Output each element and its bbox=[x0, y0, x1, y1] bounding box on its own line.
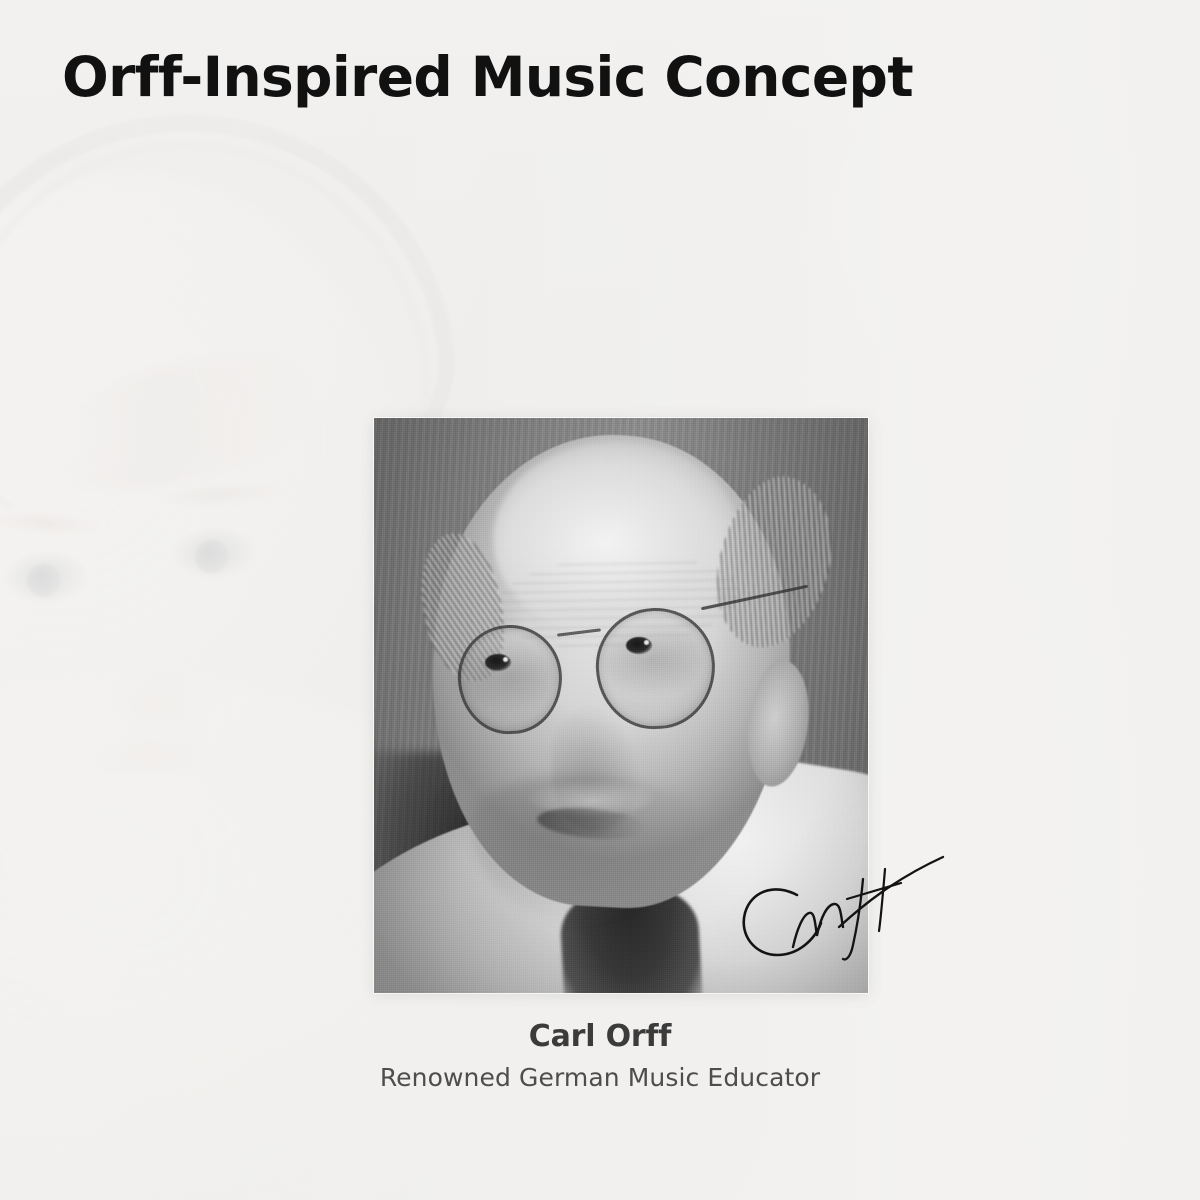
page-title: Orff-Inspired Music Concept bbox=[62, 48, 913, 107]
carl-orff-portrait-photo bbox=[374, 418, 868, 993]
portrait-container bbox=[374, 418, 868, 993]
poster-canvas: Orff-Inspired Music Concept bbox=[0, 0, 1200, 1200]
person-name: Carl Orff bbox=[0, 1018, 1200, 1056]
photo-vignette bbox=[374, 418, 868, 993]
person-role: Renowned German Music Educator bbox=[0, 1062, 1200, 1093]
portrait-caption: Carl Orff Renowned German Music Educator bbox=[0, 1018, 1200, 1094]
